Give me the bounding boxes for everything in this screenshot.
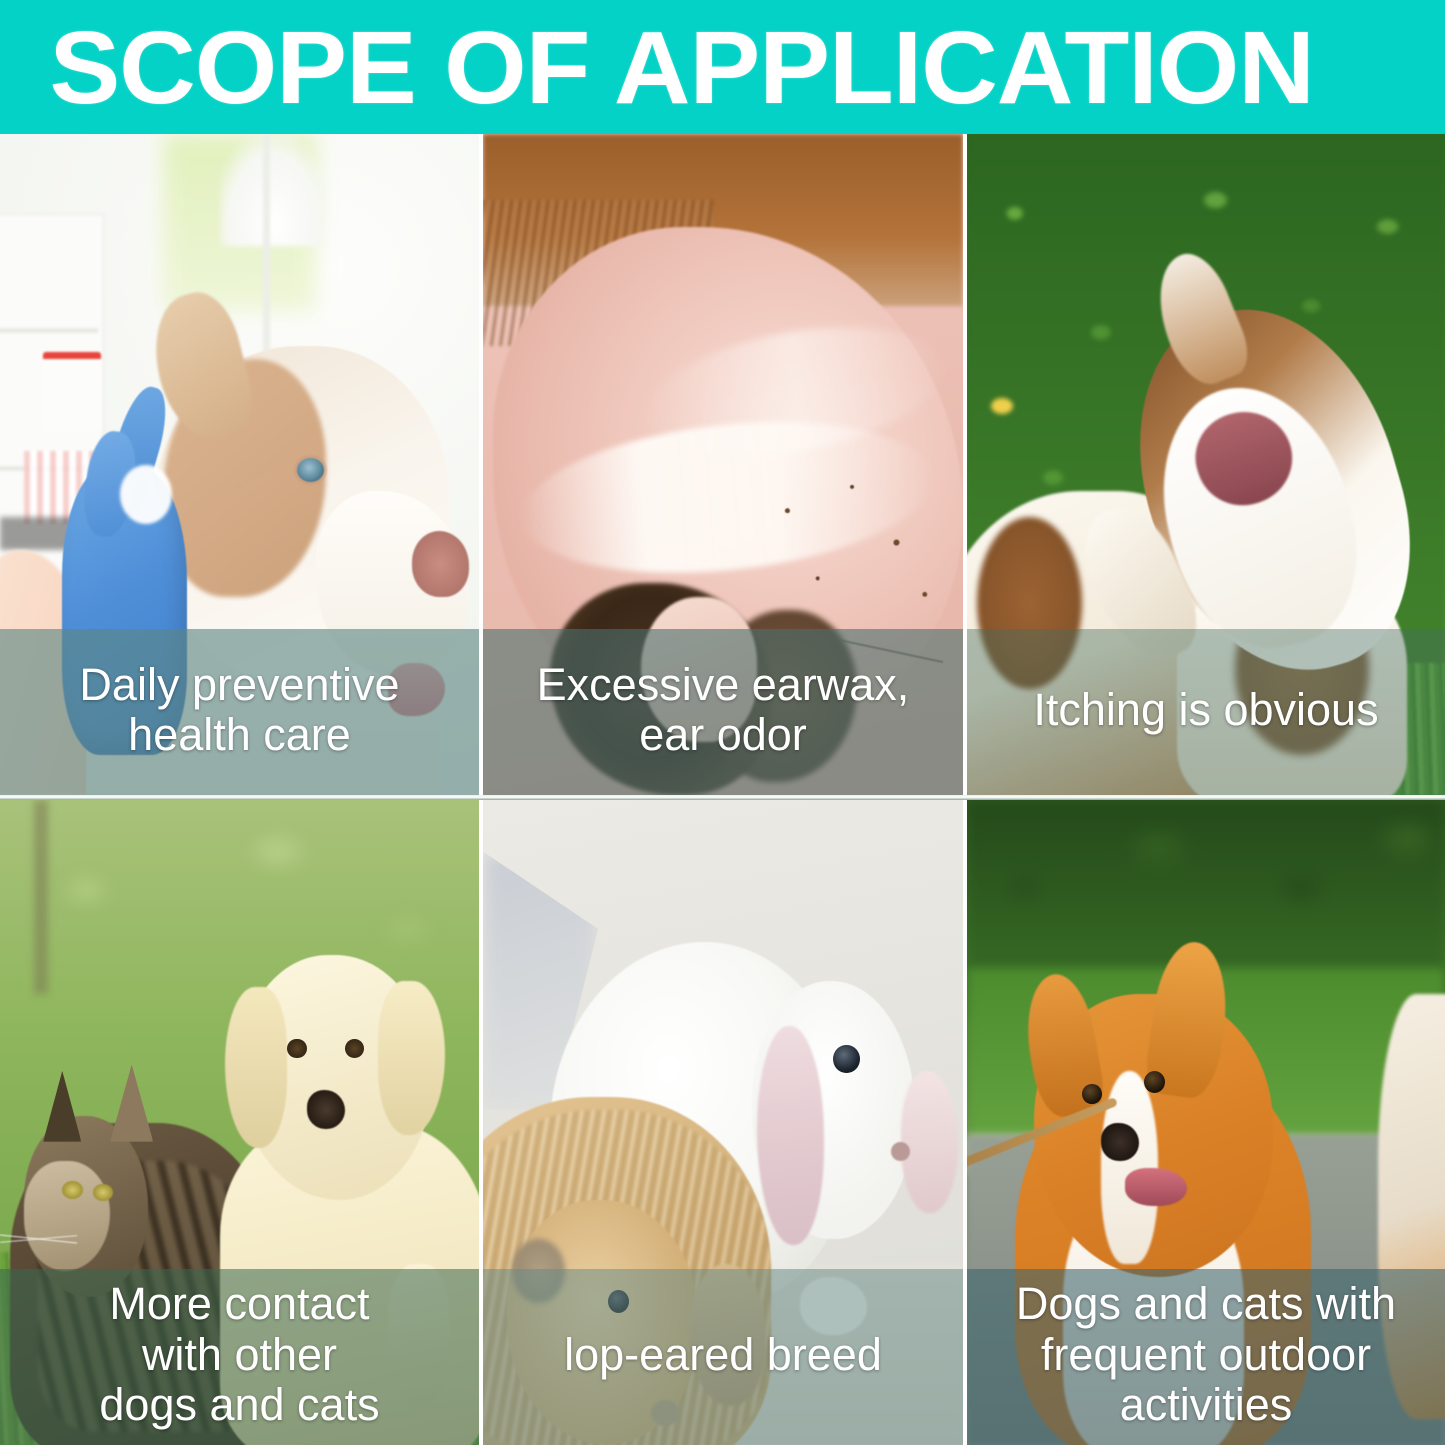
caption-more-contact-with-other-dogs-and-cats: More contact with other dogs and cats: [0, 1269, 479, 1445]
header-banner: SCOPE OF APPLICATION: [0, 0, 1445, 134]
caption-dogs-and-cats-with-frequent-outdoor-activities: Dogs and cats with frequent outdoor acti…: [967, 1269, 1445, 1445]
caption-itching-is-obvious: Itching is obvious: [967, 629, 1445, 795]
grid-cell-daily-preventive-health-care: Daily preventive health care: [0, 134, 479, 795]
caption-daily-preventive-health-care: Daily preventive health care: [0, 629, 479, 795]
grid-cell-excessive-earwax-ear-odor: Excessive earwax, ear odor: [483, 134, 963, 795]
grid-cell-more-contact-with-other-dogs-and-cats: More contact with other dogs and cats: [0, 800, 479, 1445]
row-divider: [0, 795, 1445, 800]
application-grid: Daily preventive health care Excessive e…: [0, 134, 1445, 1445]
grid-cell-dogs-and-cats-with-frequent-outdoor-activities: Dogs and cats with frequent outdoor acti…: [967, 800, 1445, 1445]
caption-excessive-earwax-ear-odor: Excessive earwax, ear odor: [483, 629, 963, 795]
caption-lop-eared-breed: lop-eared breed: [483, 1269, 963, 1445]
scope-of-application-poster: SCOPE OF APPLICATION: [0, 0, 1445, 1445]
grid-cell-lop-eared-breed: lop-eared breed: [483, 800, 963, 1445]
grid-cell-itching-is-obvious: Itching is obvious: [967, 134, 1445, 795]
page-title: SCOPE OF APPLICATION: [0, 16, 1314, 119]
